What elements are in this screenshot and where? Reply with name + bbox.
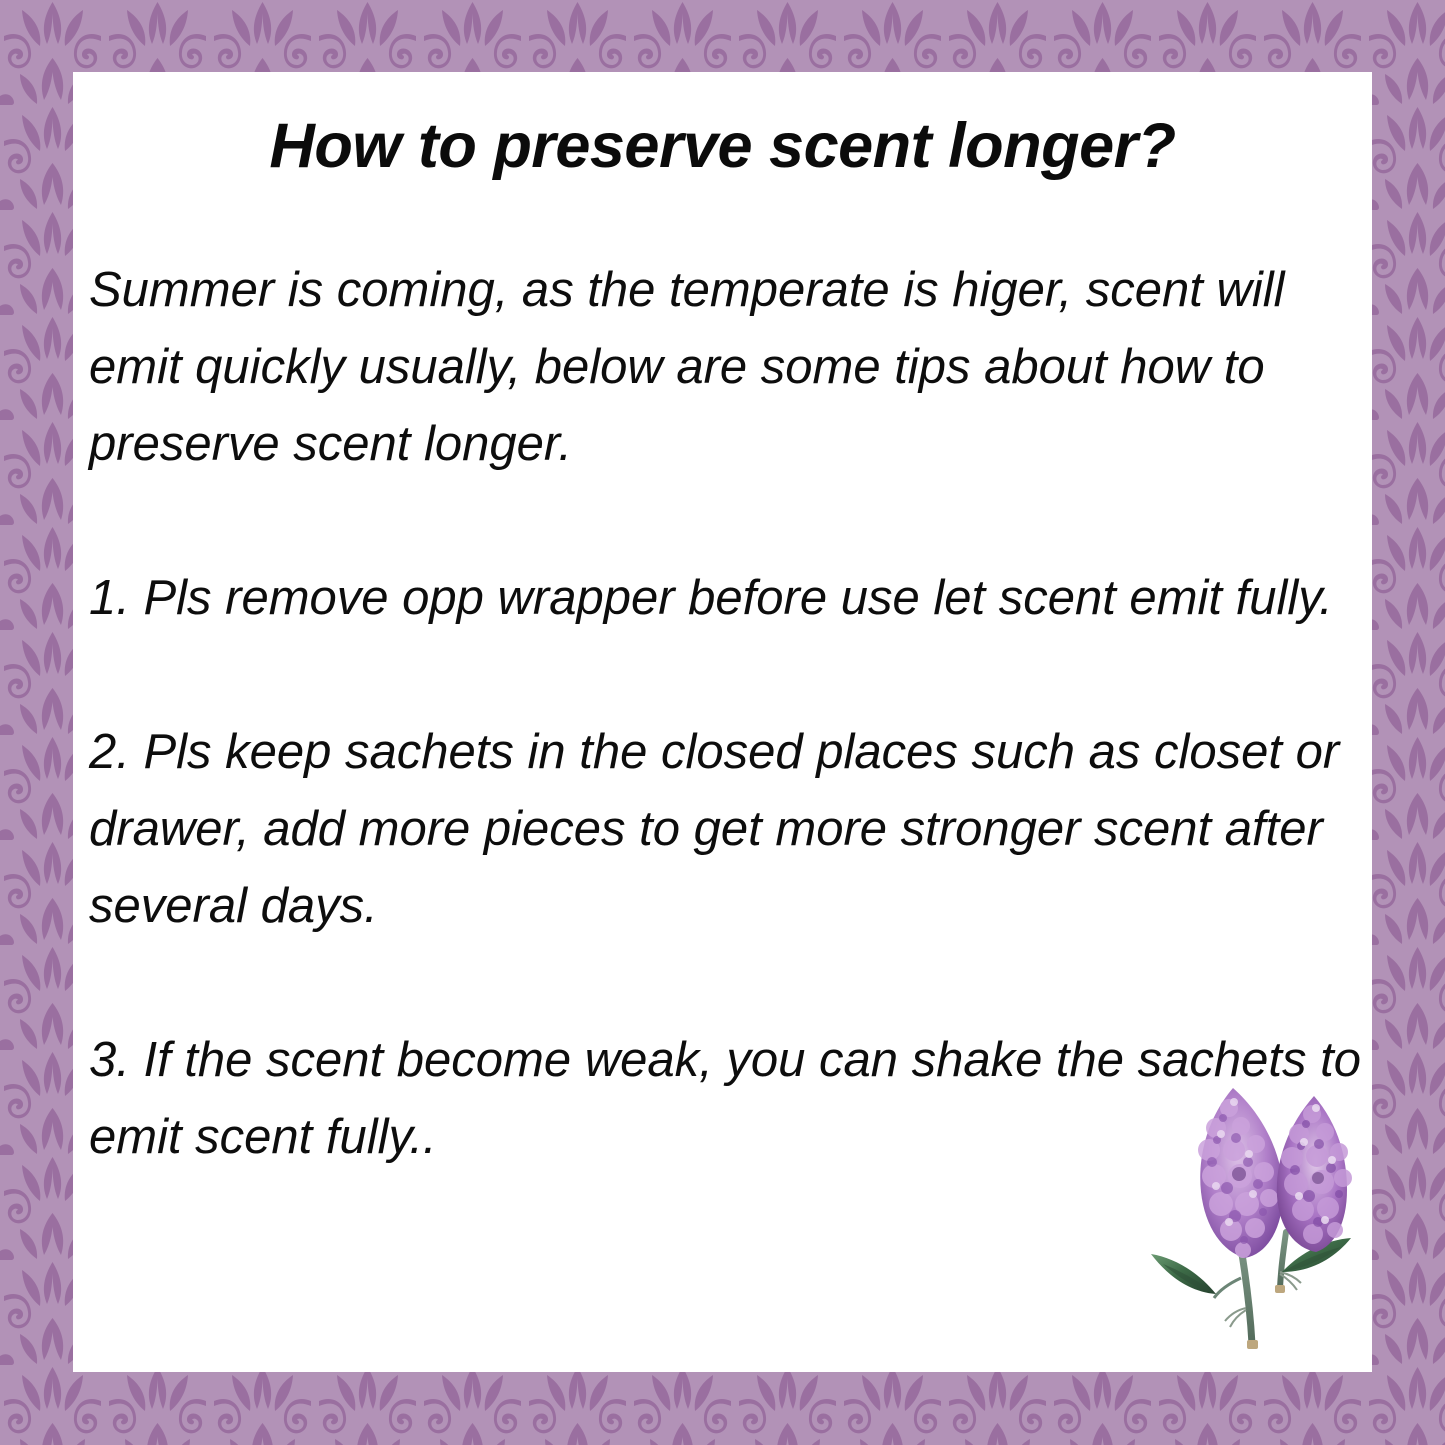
content-card: How to preserve scent longer? Summer is … [73, 72, 1372, 1372]
paragraph-tip-1: 1. Pls remove opp wrapper before use let… [89, 560, 1372, 637]
paragraph-tip-2: 2. Pls keep sachets in the closed places… [89, 714, 1372, 945]
body-text-block: Summer is coming, as the temperate is hi… [89, 252, 1372, 1176]
poster-canvas: How to preserve scent longer? Summer is … [0, 0, 1445, 1445]
page-title: How to preserve scent longer? [73, 110, 1372, 182]
paragraph-tip-3: 3. If the scent become weak, you can sha… [89, 1022, 1372, 1176]
paragraph-intro: Summer is coming, as the temperate is hi… [89, 252, 1372, 483]
